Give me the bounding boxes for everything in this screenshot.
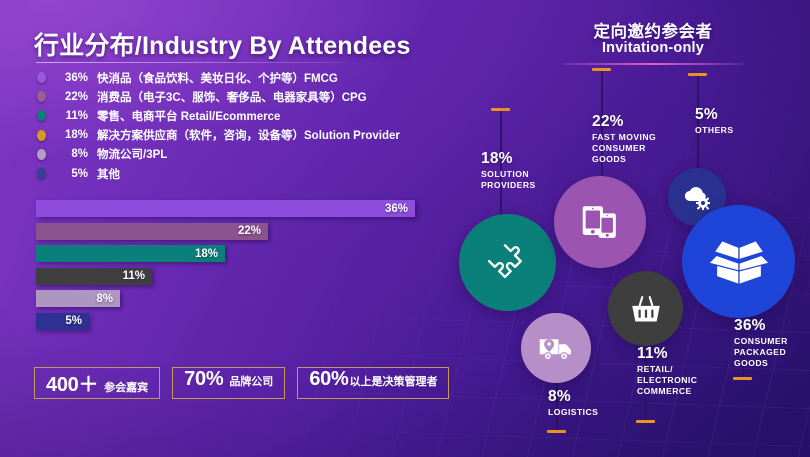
stat-box: 400＋参会嘉宾 — [34, 367, 160, 399]
node-circle-consumer-packaged-goods[interactable] — [682, 205, 795, 318]
bar[interactable]: 11% — [36, 268, 152, 285]
legend-pct: 36% — [57, 72, 88, 84]
bar-value-label: 18% — [195, 248, 225, 260]
stat-label: 品牌公司 — [229, 373, 273, 389]
stat-label: 参会嘉宾 — [104, 379, 148, 395]
legend-label: 零售、电商平台 Retail/Ecommerce — [97, 108, 280, 124]
callout-solution-providers: 18% SOLUTIONPROVIDERS — [481, 151, 536, 191]
legend-pct: 8% — [57, 148, 88, 160]
bar-row: 22% — [36, 223, 436, 246]
callout-name: CONSUMERPACKAGEDGOODS — [734, 336, 788, 369]
left-panel: 行业分布/Industry By Attendees 36%快消品（食品饮料、美… — [0, 0, 470, 457]
callout-pct: 5% — [695, 107, 734, 123]
legend-dot-cpg — [37, 91, 46, 102]
callout-others: 5% OTHERS — [695, 107, 734, 136]
bar[interactable]: 5% — [36, 313, 89, 330]
connector-tick-logistics — [547, 430, 566, 433]
node-circle-solution-providers[interactable] — [459, 214, 556, 311]
legend-dot-fmcg — [37, 72, 46, 83]
legend-pct: 5% — [57, 168, 88, 180]
connector-tick-solution — [491, 108, 510, 111]
legend-label: 物流公司/3PL — [97, 146, 167, 162]
legend-row: 18%解决方案供应商（软件，咨询，设备等）Solution Provider — [34, 126, 454, 145]
callout-pct: 36% — [734, 318, 788, 334]
node-circle-retail-electronic-commerce[interactable] — [608, 271, 683, 346]
legend-label: 快消品（食品饮料、美妆日化、个护等）FMCG — [97, 70, 338, 86]
node-circle-logistics[interactable] — [521, 313, 591, 383]
bar-row: 5% — [36, 313, 436, 336]
puzzle-icon — [483, 238, 533, 288]
legend-row: 36%快消品（食品饮料、美妆日化、个护等）FMCG — [34, 68, 454, 87]
callout-pct: 8% — [548, 389, 598, 405]
legend-label: 消费品（电子3C、服饰、奢侈品、电器家具等）CPG — [97, 89, 367, 105]
legend-row: 22%消费品（电子3C、服饰、奢侈品、电器家具等）CPG — [34, 87, 454, 106]
right-title-divider — [563, 63, 743, 65]
connector-tick-cpg — [733, 377, 752, 380]
bar-row: 8% — [36, 290, 436, 313]
mobile-devices-icon — [577, 199, 623, 245]
bar-value-label: 36% — [385, 203, 415, 215]
callout-name: RETAIL/ELECTRONICCOMMERCE — [637, 364, 697, 397]
stat-box: 70%品牌公司 — [172, 367, 285, 399]
shopping-basket-icon — [626, 289, 666, 329]
cloud-gear-icon — [681, 181, 713, 213]
legend-row: 11%零售、电商平台 Retail/Ecommerce — [34, 106, 454, 125]
legend-pct: 11% — [57, 110, 88, 122]
bar[interactable]: 8% — [36, 290, 120, 307]
legend-pct: 18% — [57, 129, 88, 141]
callout-pct: 11% — [637, 346, 697, 362]
page-title: 行业分布/Industry By Attendees — [34, 26, 411, 62]
right-title-en: Invitation-only — [543, 40, 763, 56]
bar[interactable]: 18% — [36, 245, 225, 262]
bar-chart: 36%22%18%11%8%5% — [36, 200, 436, 335]
open-box-icon — [703, 226, 775, 298]
stat-value: 60% — [309, 368, 348, 391]
chart-legend: 36%快消品（食品饮料、美妆日化、个护等）FMCG22%消费品（电子3C、服饰、… — [34, 68, 454, 183]
callout-logistics: 8% LOGISTICS — [548, 389, 598, 418]
bar-value-label: 5% — [65, 315, 89, 327]
stat-value: 400＋ — [46, 368, 98, 397]
callout-name: SOLUTIONPROVIDERS — [481, 169, 536, 191]
bar-value-label: 22% — [238, 225, 268, 237]
legend-dot-retail — [37, 110, 46, 121]
key-stats-row: 400＋参会嘉宾70%品牌公司60%以上是决策管理者 — [34, 367, 449, 399]
legend-pct: 22% — [57, 91, 88, 103]
legend-dot-solution — [37, 130, 46, 141]
slide-canvas: 行业分布/Industry By Attendees 36%快消品（食品饮料、美… — [0, 0, 810, 457]
legend-label: 解决方案供应商（软件，咨询，设备等）Solution Provider — [97, 127, 400, 143]
callout-pct: 22% — [592, 114, 656, 130]
callout-name: FAST MOVINGCONSUMERGOODS — [592, 132, 656, 165]
bar-row: 11% — [36, 268, 436, 291]
stat-box: 60%以上是决策管理者 — [297, 367, 449, 399]
legend-label: 其他 — [97, 166, 120, 182]
title-divider — [36, 62, 343, 63]
delivery-truck-icon — [536, 328, 576, 368]
bar-value-label: 8% — [96, 293, 120, 305]
connector-tick-others — [688, 73, 707, 76]
right-title-cn: 定向邀约参会者 — [543, 18, 763, 42]
stat-value: 70% — [184, 368, 223, 391]
callout-fast-moving-consumer-goods: 22% FAST MOVINGCONSUMERGOODS — [592, 114, 656, 165]
bar[interactable]: 22% — [36, 223, 268, 240]
legend-dot-logistics — [37, 149, 46, 160]
bar-row: 18% — [36, 245, 436, 268]
bar-value-label: 11% — [123, 270, 152, 282]
bar[interactable]: 36% — [36, 200, 415, 217]
callout-name: LOGISTICS — [548, 407, 598, 418]
stat-label: 以上是决策管理者 — [349, 373, 437, 389]
connector-tick-fmcg — [592, 68, 611, 71]
callout-pct: 18% — [481, 151, 536, 167]
legend-row: 8%物流公司/3PL — [34, 145, 454, 164]
node-circle-fast-moving-consumer-goods[interactable] — [554, 176, 646, 268]
callout-name: OTHERS — [695, 125, 734, 136]
legend-row: 5%其他 — [34, 164, 454, 183]
callout-consumer-packaged-goods: 36% CONSUMERPACKAGEDGOODS — [734, 318, 788, 369]
bar-row: 36% — [36, 200, 436, 223]
connector-tick-retail — [636, 420, 655, 423]
callout-retail-electronic-commerce: 11% RETAIL/ELECTRONICCOMMERCE — [637, 346, 697, 397]
legend-dot-others — [37, 168, 46, 179]
